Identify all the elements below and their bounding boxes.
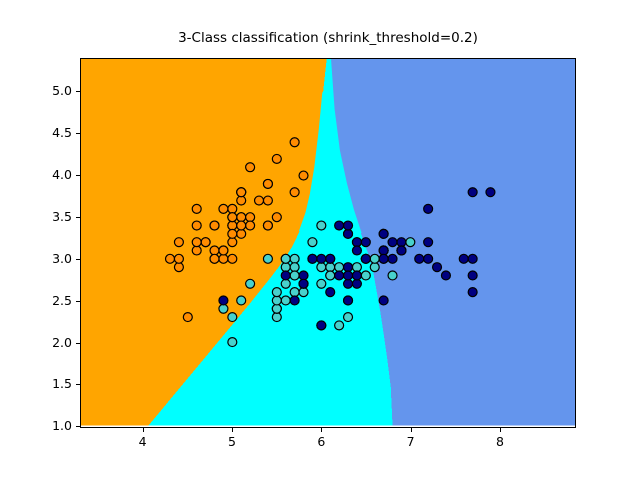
- data-point-class_0: [237, 229, 246, 238]
- data-point-class_0: [174, 254, 183, 263]
- data-point-class_1: [290, 288, 299, 297]
- data-point-class_2: [335, 221, 344, 230]
- data-point-class_0: [192, 238, 201, 247]
- x-tick-mark: [500, 428, 501, 432]
- data-point-class_1: [370, 254, 379, 263]
- data-point-class_0: [290, 188, 299, 197]
- data-point-class_1: [406, 238, 415, 247]
- data-point-class_2: [388, 254, 397, 263]
- data-point-class_1: [308, 238, 317, 247]
- data-point-class_2: [299, 279, 308, 288]
- data-point-class_0: [219, 246, 228, 255]
- data-point-class_0: [263, 179, 272, 188]
- data-point-class_2: [344, 279, 353, 288]
- data-point-class_0: [210, 221, 219, 230]
- data-point-class_2: [468, 271, 477, 280]
- data-point-class_2: [433, 263, 442, 272]
- data-point-class_1: [317, 279, 326, 288]
- x-tick-mark: [321, 428, 322, 432]
- y-tick-label: 4.5: [8, 127, 72, 139]
- data-point-class_1: [317, 263, 326, 272]
- data-point-class_2: [352, 246, 361, 255]
- data-point-class_2: [361, 254, 370, 263]
- data-point-class_2: [397, 238, 406, 247]
- data-point-class_2: [486, 188, 495, 197]
- data-point-class_1: [370, 263, 379, 272]
- data-point-class_1: [388, 271, 397, 280]
- data-point-class_1: [281, 296, 290, 305]
- data-point-class_2: [326, 288, 335, 297]
- data-point-class_0: [174, 263, 183, 272]
- data-point-class_2: [344, 229, 353, 238]
- data-point-class_0: [228, 254, 237, 263]
- data-point-class_0: [246, 163, 255, 172]
- data-point-class_2: [352, 238, 361, 247]
- data-point-class_2: [299, 271, 308, 280]
- data-point-class_2: [388, 238, 397, 247]
- data-point-class_2: [335, 271, 344, 280]
- data-point-class_2: [424, 204, 433, 213]
- data-point-class_2: [424, 254, 433, 263]
- data-point-class_2: [468, 188, 477, 197]
- data-point-class_1: [281, 254, 290, 263]
- data-point-class_1: [326, 271, 335, 280]
- data-point-class_0: [237, 188, 246, 197]
- data-point-class_0: [210, 246, 219, 255]
- data-point-class_1: [272, 313, 281, 322]
- data-point-class_1: [326, 263, 335, 272]
- data-point-class_1: [219, 304, 228, 313]
- data-point-class_2: [326, 254, 335, 263]
- data-point-class_1: [290, 254, 299, 263]
- data-point-class_1: [344, 313, 353, 322]
- data-point-class_1: [335, 263, 344, 272]
- data-point-class_0: [219, 254, 228, 263]
- y-tick-label: 1.0: [8, 420, 72, 432]
- data-point-class_2: [290, 296, 299, 305]
- data-point-class_1: [272, 304, 281, 313]
- data-point-class_1: [246, 279, 255, 288]
- plot-area: [80, 58, 576, 428]
- y-tick-label: 5.0: [8, 85, 72, 97]
- data-point-class_1: [281, 263, 290, 272]
- x-tick-mark: [411, 428, 412, 432]
- data-point-class_0: [228, 213, 237, 222]
- data-point-class_0: [228, 221, 237, 230]
- data-point-class_1: [228, 313, 237, 322]
- data-point-class_0: [219, 204, 228, 213]
- data-point-class_2: [352, 279, 361, 288]
- data-point-class_0: [246, 221, 255, 230]
- data-point-class_1: [290, 263, 299, 272]
- data-point-class_0: [183, 313, 192, 322]
- data-point-class_0: [192, 246, 201, 255]
- data-point-class_0: [246, 213, 255, 222]
- data-point-class_0: [255, 196, 264, 205]
- data-point-class_2: [397, 246, 406, 255]
- data-point-class_0: [166, 254, 175, 263]
- data-point-class_0: [228, 204, 237, 213]
- data-point-class_2: [344, 271, 353, 280]
- data-point-class_2: [344, 263, 353, 272]
- data-point-class_0: [237, 213, 246, 222]
- data-point-class_2: [379, 246, 388, 255]
- data-point-class_1: [237, 296, 246, 305]
- data-point-class_2: [308, 254, 317, 263]
- data-point-class_2: [352, 271, 361, 280]
- data-point-class_0: [192, 204, 201, 213]
- data-point-class_0: [228, 229, 237, 238]
- data-point-class_2: [415, 254, 424, 263]
- y-tick-label: 4.0: [8, 169, 72, 181]
- data-point-class_0: [263, 196, 272, 205]
- data-point-class_2: [379, 229, 388, 238]
- data-point-class_1: [290, 271, 299, 280]
- data-point-class_1: [272, 288, 281, 297]
- data-point-class_2: [424, 238, 433, 247]
- data-point-class_2: [281, 271, 290, 280]
- data-point-class_1: [228, 338, 237, 347]
- data-point-class_0: [290, 138, 299, 147]
- y-tick-label: 3.0: [8, 253, 72, 265]
- y-tick-label: 2.0: [8, 337, 72, 349]
- data-point-class_2: [459, 254, 468, 263]
- data-point-class_2: [379, 296, 388, 305]
- data-point-class_0: [237, 221, 246, 230]
- data-point-class_0: [192, 221, 201, 230]
- data-point-class_1: [317, 221, 326, 230]
- x-tick-mark: [232, 428, 233, 432]
- data-point-class_0: [210, 254, 219, 263]
- data-point-class_2: [344, 296, 353, 305]
- data-point-class_2: [317, 321, 326, 330]
- data-point-class_1: [361, 271, 370, 280]
- page-title: 3-Class classification (shrink_threshold…: [80, 30, 576, 46]
- data-point-class_0: [272, 154, 281, 163]
- data-point-class_0: [263, 221, 272, 230]
- x-tick-label: 5: [212, 436, 252, 448]
- x-tick-label: 7: [391, 436, 431, 448]
- y-tick-label: 3.5: [8, 211, 72, 223]
- matplotlib-figure: 3-Class classification (shrink_threshold…: [0, 0, 640, 480]
- data-point-class_0: [174, 238, 183, 247]
- x-tick-label: 4: [123, 436, 163, 448]
- data-point-class_1: [281, 279, 290, 288]
- data-point-class_2: [441, 271, 450, 280]
- data-point-class_1: [352, 263, 361, 272]
- x-tick-mark: [143, 428, 144, 432]
- data-point-class_1: [263, 254, 272, 263]
- data-point-class_2: [344, 221, 353, 230]
- y-tick-label: 1.5: [8, 378, 72, 390]
- x-tick-label: 6: [301, 436, 341, 448]
- data-point-class_2: [317, 254, 326, 263]
- data-point-class_0: [272, 213, 281, 222]
- data-point-class_1: [299, 288, 308, 297]
- data-point-class_0: [237, 196, 246, 205]
- x-tick-label: 8: [480, 436, 520, 448]
- y-tick-label: 2.5: [8, 295, 72, 307]
- data-point-class_0: [228, 238, 237, 247]
- data-point-class_2: [361, 238, 370, 247]
- data-point-class_0: [299, 171, 308, 180]
- data-point-class_2: [468, 288, 477, 297]
- data-point-class_2: [468, 254, 477, 263]
- data-point-class_1: [272, 296, 281, 305]
- data-point-class_2: [219, 296, 228, 305]
- data-point-class_0: [201, 238, 210, 247]
- scatter-points-layer: [81, 59, 575, 427]
- data-point-class_1: [335, 321, 344, 330]
- data-point-class_2: [379, 254, 388, 263]
